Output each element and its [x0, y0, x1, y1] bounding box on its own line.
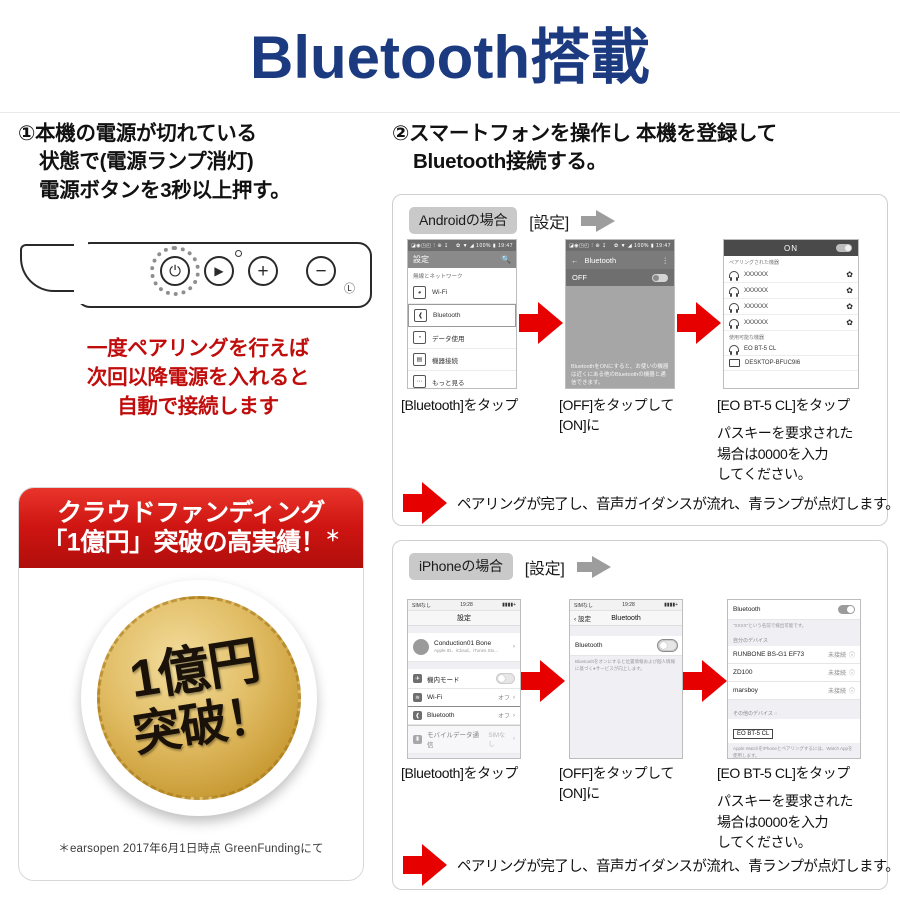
- android-item-wifi[interactable]: ◕ Wi-Fi: [408, 282, 516, 304]
- android-status-left-2: ◪◉◳◰ ⁝ ⊕ ↧: [569, 243, 607, 249]
- bluetooth-icon: ❰: [413, 711, 422, 720]
- step-1-line-2: 状態で(電源ランプ消灯): [18, 148, 378, 176]
- android-paired-name-2: XXXXXX: [744, 288, 768, 294]
- iphone-status-bar: SIMなし 19:28 ▮▮▮▮+: [408, 600, 520, 611]
- device-illustration: ⏻ ▶ + − Ⓛ: [18, 236, 378, 324]
- auto-connect-note: 一度ペアリングを行えば 次回以降電源を入れると 自動で接続します: [18, 334, 378, 421]
- spinner-icon: ◌: [774, 711, 777, 717]
- iphone-device-name-2: ZD100: [733, 669, 753, 676]
- red-arrow-icon-2: [677, 301, 721, 345]
- android-bluetooth-body: BluetoothをONにすると、お使いの機器は近くにある他のBluetooth…: [566, 286, 674, 389]
- iphone-settings-label: [設定]: [525, 555, 565, 579]
- android-os-pill: Androidの場合: [409, 207, 517, 234]
- iphone-device-status-3: 未接続: [828, 686, 846, 695]
- android-on-toggle[interactable]: [836, 244, 852, 252]
- iphone-device-status-1: 未接続: [828, 650, 846, 659]
- iphone-row-wifi-label: Wi-Fi: [427, 694, 442, 701]
- iphone-os-pill: iPhoneの場合: [409, 553, 513, 580]
- android-paired-row-3[interactable]: XXXXXX ✿: [724, 299, 858, 315]
- android-available-row-2[interactable]: DESKTOP-BFUC9I6: [724, 356, 858, 371]
- chevron-right-icon: ›: [513, 713, 515, 719]
- page-title: Bluetooth搭載: [0, 26, 900, 89]
- iphone-status-time: 19:28: [460, 602, 473, 608]
- iphone-caption-3-line-2: パスキーを要求された: [717, 791, 887, 811]
- airplane-icon: ✈: [413, 674, 422, 683]
- iphone-account-sub: Apple ID、iCloud、iTunes Sto...: [434, 648, 498, 654]
- iphone-row-bluetooth[interactable]: ❰ Bluetooth オフ›: [408, 707, 520, 725]
- chevron-right-icon: ›: [513, 644, 515, 650]
- iphone-panel: iPhoneの場合 [設定] SIMなし 19:28 ▮▮▮▮+ 設定 Cond…: [392, 540, 888, 890]
- iphone-row-airplane[interactable]: ✈ 機内モード: [408, 669, 520, 689]
- android-item-data-usage-label: データ使用: [432, 333, 465, 343]
- iphone-watch-note: Apple WatchをiPhoneとペアリングするには、Watch Appを使…: [728, 743, 860, 759]
- iphone-screen-settings[interactable]: SIMなし 19:28 ▮▮▮▮+ 設定 Conduction01 Bone A…: [407, 599, 521, 759]
- android-bluetooth-toggle-row[interactable]: OFF: [566, 269, 674, 286]
- iphone-status-left-2: SIMなし: [574, 602, 593, 609]
- crowdfunding-card: クラウドファンディング 「1億円」突破の高実績！＊ 1億円 突破！ ＊earso…: [18, 487, 364, 881]
- iphone-row-airplane-label: 機内モード: [427, 674, 460, 684]
- iphone-settings-title-bar: 設定: [408, 611, 520, 626]
- bluetooth-icon: ❰: [414, 309, 427, 322]
- back-arrow-icon[interactable]: ←: [571, 256, 579, 265]
- android-status-left: ◪◉◳◰ ⁝ ⊕ ↧: [411, 243, 449, 249]
- iphone-caption-2-line-1: [OFF]をタップして: [559, 763, 709, 783]
- headphone-icon: [729, 271, 739, 278]
- iphone-caption-3: [EO BT-5 CL]をタップ パスキーを要求された 場合は0000を入力 し…: [717, 763, 887, 852]
- iphone-done-row: ペアリングが完了し、音声ガイダンスが流れ、青ランプが点灯します。: [403, 843, 899, 887]
- iphone-row-wifi-value: オフ: [498, 693, 510, 702]
- wifi-icon: ≋: [413, 693, 422, 702]
- iphone-device-name-1: RUNBONE BS-G1 EF73: [733, 651, 804, 658]
- android-status-right: ✿ ▼ ◢ 100% ▮ 19:47: [456, 243, 513, 249]
- plus-icon: +: [248, 256, 278, 286]
- iphone-os-row: iPhoneの場合 [設定]: [409, 553, 611, 580]
- headphone-icon: [729, 287, 739, 294]
- android-item-more-label: もっと見る: [432, 377, 465, 387]
- avatar: [413, 639, 429, 655]
- iphone-row-cellular-label: モバイルデータ通信: [427, 729, 483, 749]
- android-screen-bluetooth-on[interactable]: ON ペアリングされた機器 XXXXXX ✿ XXXXXX ✿ XXXXXX ✿…: [723, 239, 859, 389]
- android-item-wifi-label: Wi-Fi: [432, 289, 447, 296]
- left-channel-mark: Ⓛ: [344, 280, 355, 296]
- android-paired-row-4[interactable]: XXXXXX ✿: [724, 315, 858, 331]
- iphone-caption-2: [OFF]をタップして [ON]に: [559, 763, 709, 804]
- iphone-other-device-name: EO BT-5 CL: [733, 729, 773, 739]
- iphone-bluetooth-toggle-row[interactable]: Bluetooth: [570, 636, 682, 656]
- crowdfunding-banner-line-2-text: 「1億円」突破の高実績！: [42, 528, 325, 556]
- info-icon[interactable]: ⓘ: [849, 650, 855, 659]
- android-paired-name-1: XXXXXX: [744, 272, 768, 278]
- iphone-airplane-toggle[interactable]: [496, 673, 515, 684]
- iphone-device-row-2[interactable]: ZD100 未接続ⓘ: [728, 664, 860, 682]
- overflow-menu-icon[interactable]: ⋮: [662, 256, 670, 265]
- android-done-text: ペアリングが完了し、音声ガイダンスが流れ、青ランプが点灯します。: [457, 493, 899, 514]
- headphone-icon: [729, 303, 739, 310]
- iphone-bluetooth-toggle[interactable]: [658, 640, 677, 651]
- device-seam: [74, 242, 88, 304]
- headphone-icon: [729, 319, 739, 326]
- android-status-bar-2: ◪◉◳◰ ⁝ ⊕ ↧ ✿ ▼ ◢ 100% ▮ 19:47: [566, 240, 674, 251]
- gear-icon[interactable]: ✿: [846, 270, 853, 279]
- info-icon[interactable]: ⓘ: [849, 686, 855, 695]
- info-icon[interactable]: ⓘ: [849, 668, 855, 677]
- step-2-line-2: Bluetooth接続する。: [392, 148, 884, 176]
- gray-arrow-icon: [581, 210, 615, 232]
- iphone-bluetooth-note: Bluetoothをオンにすると位置情報および個人情報に基づく●サービスが向上し…: [570, 656, 682, 676]
- android-screen-settings[interactable]: ◪◉◳◰ ⁝ ⊕ ↧ ✿ ▼ ◢ 100% ▮ 19:47 設定 🔍 無線とネッ…: [407, 239, 517, 389]
- red-arrow-icon-3: [521, 659, 565, 703]
- android-panel: Androidの場合 [設定] ◪◉◳◰ ⁝ ⊕ ↧ ✿ ▼ ◢ 100% ▮ …: [392, 194, 888, 526]
- android-paired-row-2[interactable]: XXXXXX ✿: [724, 283, 858, 299]
- iphone-device-name-3: marsboy: [733, 687, 758, 694]
- step-1-line-3: 電源ボタンを3秒以上押す。: [18, 177, 378, 205]
- android-on-label: ON: [784, 244, 798, 253]
- android-caption-2-line-1: [OFF]をタップして: [559, 395, 709, 415]
- gray-arrow-icon: [577, 556, 611, 578]
- android-paired-row-1[interactable]: XXXXXX ✿: [724, 267, 858, 283]
- android-item-bluetooth[interactable]: ❰ Bluetooth: [408, 304, 516, 327]
- coin-text: 1億円 突破！: [64, 563, 334, 833]
- iphone-row-cellular-value: SIMなし: [488, 730, 510, 748]
- data-usage-icon: ◔: [413, 331, 426, 344]
- android-item-more[interactable]: ⋯ もっと見る: [408, 371, 516, 389]
- android-bluetooth-title-bar: ← Bluetooth ⋮: [566, 251, 674, 269]
- android-item-data-usage[interactable]: ◔ データ使用: [408, 327, 516, 349]
- step-2-line-1: ②スマートフォンを操作し 本機を登録して: [392, 122, 777, 145]
- auto-connect-line-1: 一度ペアリングを行えば: [18, 334, 378, 363]
- iphone-account-row[interactable]: Conduction01 Bone Apple ID、iCloud、iTunes…: [408, 633, 520, 662]
- iphone-screen-bluetooth-on[interactable]: Bluetooth "XXXX"という名前で検出可能です。 自分のデバイス RU…: [727, 599, 861, 759]
- red-arrow-icon-1: [519, 301, 563, 345]
- android-available-section: 使用可能な機器: [724, 331, 858, 342]
- android-settings-label: [設定]: [529, 209, 569, 233]
- iphone-bluetooth-row-label: Bluetooth: [575, 642, 602, 649]
- android-bluetooth-state: OFF: [572, 273, 587, 282]
- back-button[interactable]: ‹ 設定: [574, 613, 591, 623]
- iphone-bt-on-toggle[interactable]: [838, 605, 855, 614]
- android-caption-1: [Bluetooth]をタップ: [401, 395, 551, 415]
- step-1-text: ①本機の電源が切れている 状態で(電源ランプ消灯) 電源ボタンを3秒以上押す。: [18, 120, 378, 205]
- red-arrow-icon-4: [683, 659, 727, 703]
- gear-icon[interactable]: ✿: [846, 318, 853, 327]
- gear-icon[interactable]: ✿: [846, 302, 853, 311]
- iphone-status-time-2: 19:28: [622, 602, 635, 608]
- iphone-device-row-1[interactable]: RUNBONE BS-G1 EF73 未接続ⓘ: [728, 646, 860, 664]
- android-settings-title-bar: 設定 🔍: [408, 251, 516, 268]
- chevron-right-icon: ›: [513, 695, 515, 701]
- android-bluetooth-title: Bluetooth: [579, 256, 662, 265]
- red-arrow-icon-done-iphone: [403, 843, 447, 887]
- minus-icon: −: [306, 256, 336, 286]
- android-item-device-connect-label: 機器接続: [432, 355, 458, 365]
- back-button-label: 設定: [578, 616, 591, 623]
- gear-icon[interactable]: ✿: [846, 286, 853, 295]
- iphone-status-bar-2: SIMなし 19:28 ▮▮▮▮+: [570, 600, 682, 611]
- crowdfunding-banner-line-1: クラウドファンディング: [57, 499, 325, 528]
- android-caption-3: [EO BT-5 CL]をタップ パスキーを要求された 場合は0000を入力 し…: [717, 395, 887, 484]
- iphone-other-device-row[interactable]: EO BT-5 CL: [728, 719, 860, 743]
- iphone-account-name: Conduction01 Bone: [434, 640, 498, 647]
- device-connect-icon: ▤: [413, 353, 426, 366]
- crowdfunding-banner: クラウドファンディング 「1億円」突破の高実績！＊: [19, 488, 363, 568]
- iphone-status-right: ▮▮▮▮+: [502, 602, 516, 608]
- android-caption-2: [OFF]をタップして [ON]に: [559, 395, 709, 436]
- android-done-row: ペアリングが完了し、音声ガイダンスが流れ、青ランプが点灯します。: [403, 481, 899, 525]
- iphone-my-devices-section: 自分のデバイス: [728, 633, 860, 646]
- right-column: ②スマートフォンを操作し 本機を登録して Bluetooth接続する。: [392, 120, 884, 177]
- android-caption-3-line-1: [EO BT-5 CL]をタップ: [717, 395, 887, 415]
- android-on-bar: ON: [724, 240, 858, 256]
- red-arrow-icon-done-android: [403, 481, 447, 525]
- android-available-row-1[interactable]: EO BT-5 CL: [724, 342, 858, 356]
- iphone-bt-discover-note: "XXXX"という名前で検出可能です。: [728, 620, 860, 633]
- iphone-caption-3-line-3: 場合は0000を入力: [717, 812, 887, 832]
- title-divider: [0, 112, 900, 113]
- lamp-dot-icon: [235, 250, 242, 257]
- iphone-device-row-3[interactable]: marsboy 未接続ⓘ: [728, 682, 860, 700]
- crowdfunding-banner-line-2: 「1億円」突破の高実績！＊: [42, 528, 339, 557]
- headphone-icon: [729, 345, 739, 352]
- cellular-icon: ▮: [413, 735, 422, 744]
- android-os-row: Androidの場合 [設定]: [409, 207, 615, 234]
- iphone-status-left: SIMなし: [412, 602, 431, 609]
- android-caption-3-line-2: パスキーを要求された: [717, 423, 887, 443]
- android-item-device-connect[interactable]: ▤ 機器接続: [408, 349, 516, 371]
- iphone-settings-title: 設定: [457, 613, 471, 623]
- auto-connect-line-3: 自動で接続します: [18, 392, 378, 421]
- wifi-icon: ◕: [413, 286, 426, 299]
- iphone-caption-2-line-2: [ON]に: [559, 783, 709, 803]
- android-network-section: 無線とネットワーク: [408, 268, 516, 282]
- step-1-line-1: ①本機の電源が切れている: [18, 122, 257, 145]
- iphone-screen-bluetooth-off[interactable]: SIMなし 19:28 ▮▮▮▮+ ‹ 設定 Bluetooth Bluetoo…: [569, 599, 683, 759]
- android-status-bar: ◪◉◳◰ ⁝ ⊕ ↧ ✿ ▼ ◢ 100% ▮ 19:47: [408, 240, 516, 251]
- iphone-status-right-2: ▮▮▮▮+: [664, 602, 678, 608]
- iphone-bluetooth-title-bar: ‹ 設定 Bluetooth: [570, 611, 682, 626]
- iphone-caption-1: [Bluetooth]をタップ: [401, 763, 551, 783]
- iphone-other-devices-section: その他のデバイス ◌: [728, 700, 860, 719]
- iphone-other-devices-label: その他のデバイス: [733, 711, 773, 717]
- promo-page: Bluetooth搭載 ①本機の電源が切れている 状態で(電源ランプ消灯) 電源…: [0, 0, 900, 900]
- crowdfunding-footnote: ＊earsopen 2017年6月1日時点 GreenFundingにて: [19, 840, 363, 856]
- iphone-row-bluetooth-label: Bluetooth: [427, 712, 454, 719]
- search-icon[interactable]: 🔍: [501, 255, 511, 264]
- gold-coin: 1億円 突破！: [81, 580, 317, 816]
- iphone-caption-3-line-1: [EO BT-5 CL]をタップ: [717, 763, 887, 783]
- android-item-bluetooth-label: Bluetooth: [433, 312, 460, 319]
- android-caption-2-line-2: [ON]に: [559, 415, 709, 435]
- android-paired-name-4: XXXXXX: [744, 320, 768, 326]
- chevron-right-icon: ›: [513, 736, 515, 742]
- android-bluetooth-toggle[interactable]: [652, 274, 668, 282]
- iphone-row-wifi[interactable]: ≋ Wi-Fi オフ›: [408, 689, 520, 707]
- computer-icon: [729, 359, 740, 367]
- auto-connect-line-2: 次回以降電源を入れると: [18, 363, 378, 392]
- iphone-row-cellular[interactable]: ▮ モバイルデータ通信 SIMなし›: [408, 725, 520, 754]
- iphone-done-text: ペアリングが完了し、音声ガイダンスが流れ、青ランプが点灯します。: [457, 855, 899, 876]
- android-status-right-2: ✿ ▼ ◢ 100% ▮ 19:47: [614, 243, 671, 249]
- power-icon: ⏻: [160, 256, 190, 286]
- android-paired-name-3: XXXXXX: [744, 304, 768, 310]
- play-icon: ▶: [204, 256, 234, 286]
- step-2-text: ②スマートフォンを操作し 本機を登録して Bluetooth接続する。: [392, 120, 884, 177]
- android-caption-3-line-3: 場合は0000を入力: [717, 444, 887, 464]
- iphone-bluetooth-title: Bluetooth: [611, 615, 641, 622]
- iphone-row-bluetooth-value: オフ: [498, 711, 510, 720]
- android-available-name-2: DESKTOP-BFUC9I6: [745, 360, 800, 366]
- more-icon: ⋯: [413, 375, 426, 388]
- iphone-device-status-2: 未接続: [828, 668, 846, 677]
- banner-asterisk: ＊: [325, 528, 340, 545]
- left-column: ①本機の電源が切れている 状態で(電源ランプ消灯) 電源ボタンを3秒以上押す。: [18, 120, 378, 205]
- android-bluetooth-note: BluetoothをONにすると、お使いの機器は近くにある他のBluetooth…: [571, 363, 669, 388]
- iphone-bt-on-label: Bluetooth: [733, 606, 760, 613]
- android-screen-bluetooth-off[interactable]: ◪◉◳◰ ⁝ ⊕ ↧ ✿ ▼ ◢ 100% ▮ 19:47 ← Bluetoot…: [565, 239, 675, 389]
- android-available-name-1: EO BT-5 CL: [744, 346, 776, 352]
- android-settings-title: 設定: [413, 254, 429, 265]
- iphone-bt-on-row[interactable]: Bluetooth: [728, 600, 860, 620]
- android-paired-section: ペアリングされた機器: [724, 256, 858, 267]
- coin-illustration: 1億円 突破！: [19, 568, 363, 836]
